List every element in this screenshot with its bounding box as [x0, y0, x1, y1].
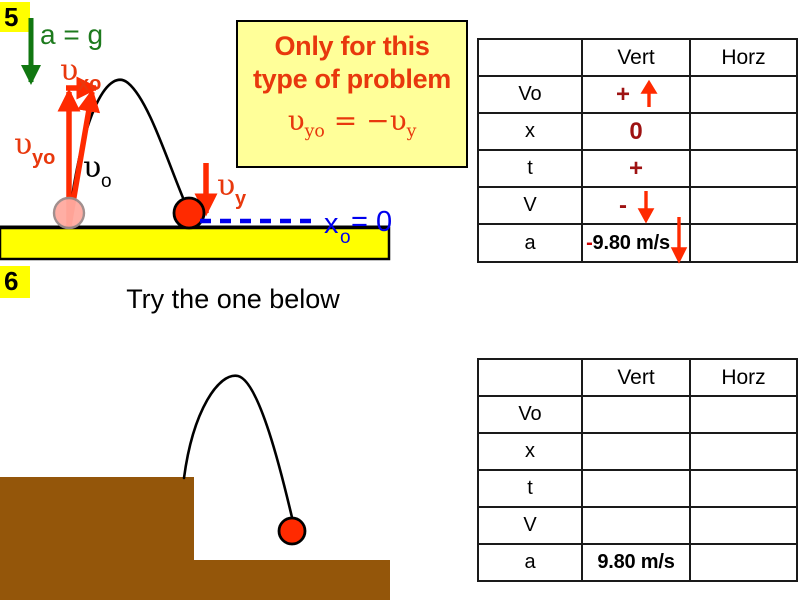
projectile-table-bottom: Vert Horz Vo x t V a 9.80 m/s [477, 358, 798, 582]
cell-x-horz[interactable] [690, 433, 797, 470]
cell-t-vert[interactable] [582, 470, 690, 507]
row-label-x: x [478, 113, 582, 150]
projectile-table-top: Vert Horz Vo + x 0 [477, 38, 798, 263]
callout-equation: υyo = −υy [238, 100, 466, 142]
row-label-v: V [478, 187, 582, 224]
projectile-figure-bottom [0, 350, 470, 600]
cell-v-vert-value: - [619, 192, 627, 220]
table-header-horz: Horz [690, 359, 797, 396]
cell-vo-vert-value: + [616, 81, 630, 109]
projectile-ball-bottom [279, 518, 305, 544]
cell-t-horz[interactable] [690, 150, 797, 187]
callout-eq-symbol-2: υ [390, 104, 407, 137]
v-o-label: υ [83, 150, 101, 185]
trajectory-path-bottom [184, 376, 294, 526]
table-row: Vo [478, 396, 797, 433]
callout-line-2: type of problem [238, 63, 466, 96]
cell-a-horz[interactable] [690, 224, 797, 262]
cell-vo-vert[interactable] [582, 396, 690, 433]
acceleration-label: a = g [40, 19, 103, 50]
v-xo-label: υ [60, 53, 78, 88]
row-label-vo: Vo [478, 76, 582, 113]
table-row: V - [478, 187, 797, 224]
cell-v-vert[interactable] [582, 507, 690, 544]
landing-ball-top [174, 198, 204, 228]
cell-a-vert-value: -9.80 m/s [586, 232, 670, 255]
callout-line-1: Only for this [238, 30, 466, 63]
cell-t-horz[interactable] [690, 470, 797, 507]
row-label-a: a [478, 224, 582, 262]
v-o-label-sub: o [101, 171, 112, 192]
cell-a-vert[interactable]: 9.80 m/s [582, 544, 690, 581]
callout-eq-sub-1: yo [305, 122, 325, 142]
callout-box: Only for this type of problem υyo = −υy [236, 20, 468, 168]
callout-eq-symbol-1: υ [288, 104, 305, 137]
row-label-a: a [478, 544, 582, 581]
origin-label-rest: = 0 [351, 206, 392, 238]
origin-label: x [324, 208, 339, 240]
v-y-label: υ [217, 168, 235, 203]
cell-a-vert[interactable]: -9.80 m/s [582, 224, 690, 262]
table-row: x 0 [478, 113, 797, 150]
cell-t-vert[interactable]: + [582, 150, 690, 187]
cell-x-horz[interactable] [690, 113, 797, 150]
table-header-blank [478, 39, 582, 76]
table-row: t [478, 470, 797, 507]
table-row: V [478, 507, 797, 544]
row-label-t: t [478, 470, 582, 507]
cliff-block-upper [0, 477, 194, 600]
cell-v-horz[interactable] [690, 507, 797, 544]
arrow-down-icon [672, 225, 686, 261]
cell-v-horz[interactable] [690, 187, 797, 224]
origin-label-sub: o [340, 227, 351, 248]
cell-a-vert-value: 9.80 m/s [597, 551, 674, 574]
table-row: Vo + [478, 76, 797, 113]
cliff-block-lower [194, 560, 390, 600]
callout-eq-sub-2: y [407, 122, 417, 142]
table-row: t + [478, 150, 797, 187]
callout-eq-operator: = − [325, 104, 390, 137]
table-header-vert: Vert [582, 359, 690, 396]
cell-v-vert[interactable]: - [582, 187, 690, 224]
table-header-horz: Horz [690, 39, 797, 76]
row-label-vo: Vo [478, 396, 582, 433]
cell-x-vert[interactable]: 0 [582, 113, 690, 150]
cell-vo-horz[interactable] [690, 396, 797, 433]
table-header-vert: Vert [582, 39, 690, 76]
v-y-label-sub: y [235, 188, 247, 210]
table-header-blank [478, 359, 582, 396]
cell-a-horz[interactable] [690, 544, 797, 581]
row-label-t: t [478, 150, 582, 187]
arrow-up-icon [642, 82, 656, 108]
row-label-v: V [478, 507, 582, 544]
cell-t-vert-value: + [629, 155, 643, 183]
table-row: a 9.80 m/s [478, 544, 797, 581]
table-header-row: Vert Horz [478, 359, 797, 396]
cell-vo-horz[interactable] [690, 76, 797, 113]
launch-ball-top [54, 198, 84, 228]
instruction-text: Try the one below [0, 282, 466, 316]
table-row: a -9.80 m/s [478, 224, 797, 262]
v-yo-label-sub: yo [32, 147, 55, 169]
table-header-row: Vert Horz [478, 39, 797, 76]
cell-x-vert-value: 0 [629, 118, 642, 146]
v-yo-label: υ [14, 127, 32, 162]
v-xo-label-sub: xo [78, 73, 101, 95]
table-row: x [478, 433, 797, 470]
cell-vo-vert[interactable]: + [582, 76, 690, 113]
arrow-down-icon [639, 191, 653, 221]
cell-x-vert[interactable] [582, 433, 690, 470]
row-label-x: x [478, 433, 582, 470]
